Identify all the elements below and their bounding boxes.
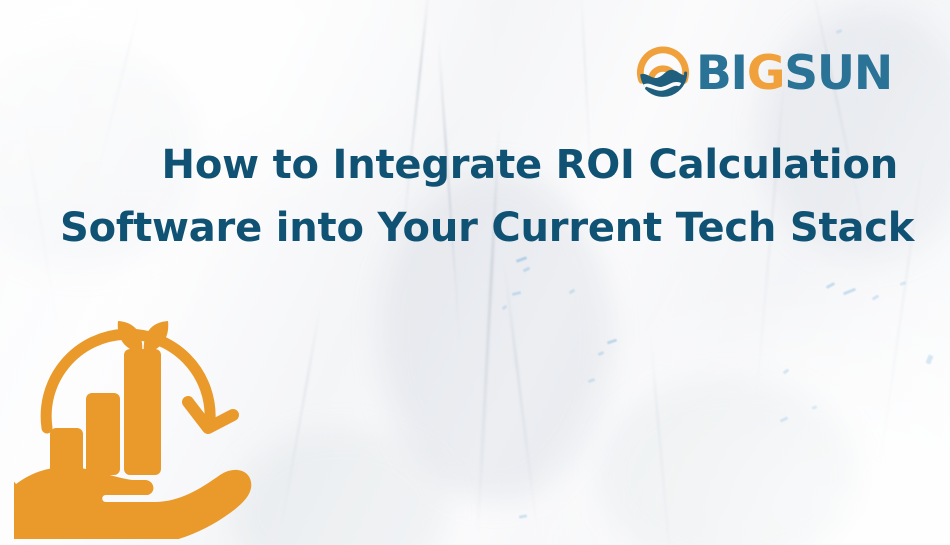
bigsun-sun-wave-logo-icon <box>634 44 692 102</box>
wordmark-part-bi: BI <box>696 46 747 101</box>
hand-holding-growth-chart-icon <box>14 277 276 539</box>
wordmark-part-sun: SUN <box>784 46 892 101</box>
wordmark-part-g: G <box>747 46 784 101</box>
bigsun-logo[interactable]: BIGSUN <box>634 44 892 102</box>
banner-headline: How to Integrate ROI Calculation Softwar… <box>60 134 898 260</box>
blog-banner: BIGSUN How to Integrate ROI Calculation … <box>0 0 950 545</box>
roi-growth-illustration <box>14 277 276 539</box>
bigsun-wordmark: BIGSUN <box>696 50 892 97</box>
headline-line-2: Software into Your Current Tech Stack <box>60 197 898 260</box>
headline-line-1: How to Integrate ROI Calculation <box>60 134 898 197</box>
